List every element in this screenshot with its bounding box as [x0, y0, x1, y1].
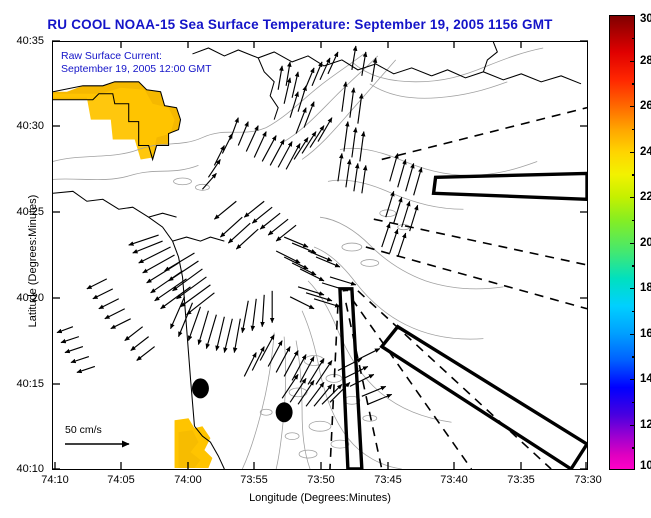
x-axis-title: Longitude (Degrees:Minutes) [52, 492, 588, 504]
x-tick-label: 73:50 [307, 474, 335, 486]
colorbar-tick-label: 18 [640, 282, 651, 294]
x-tick-label: 73:35 [507, 474, 535, 486]
x-tick-label: 73:30 [574, 474, 602, 486]
colorbar-tick-label: 28 [640, 55, 651, 67]
x-tick-label: 73:55 [240, 474, 268, 486]
colorbar-ticks [609, 15, 635, 470]
x-tick-label: 73:45 [374, 474, 402, 486]
colorbar-tick-label: 30 [640, 13, 651, 25]
colorbar-tick-label: 22 [640, 191, 651, 203]
x-tick-label: 74:05 [107, 474, 135, 486]
annotation-line-1: Raw Surface Current: [61, 50, 212, 63]
colorbar-tick-label: 24 [640, 146, 651, 158]
current-annotation: Raw Surface Current: September 19, 2005 … [61, 50, 212, 76]
colorbar-tick-label: 10 [640, 460, 651, 472]
colorbar-tick-label: 14 [640, 373, 651, 385]
scale-bar-label: 50 cm/s [63, 424, 153, 436]
x-tick-label: 74:00 [174, 474, 202, 486]
scale-bar: 50 cm/s [63, 424, 153, 455]
x-tick-label: 74:10 [41, 474, 69, 486]
annotation-line-2: September 19, 2005 12:00 GMT [61, 63, 212, 76]
scale-bar-arrow-icon [63, 438, 143, 450]
colorbar-tick-label: 16 [640, 328, 651, 340]
colorbar-tick-label: 20 [640, 237, 651, 249]
colorbar-tick-label: 12 [640, 419, 651, 431]
colorbar-tick-label: 26 [640, 100, 651, 112]
x-tick-label: 73:40 [440, 474, 468, 486]
colorbar: 30 28 26 24 22 20 18 16 14 12 10 [609, 15, 635, 470]
